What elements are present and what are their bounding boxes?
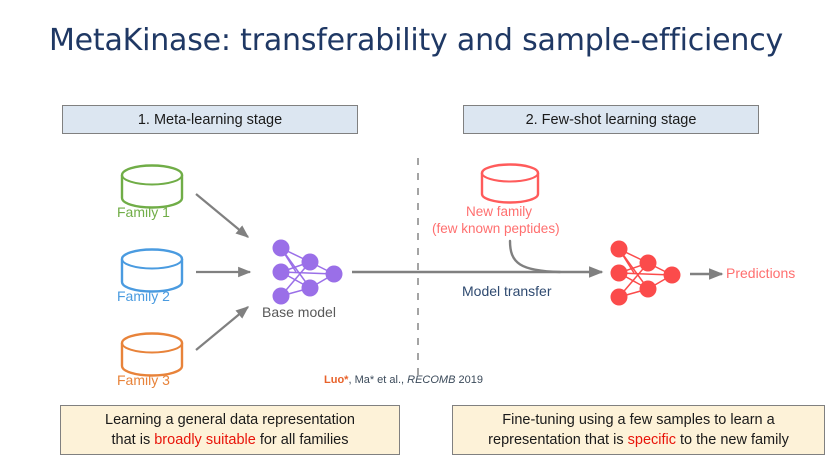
- cylinder-family-1: [122, 166, 182, 208]
- citation-journal: RECOMB: [407, 374, 455, 386]
- caption-meta-line2: that is broadly suitable for all familie…: [112, 430, 349, 450]
- label-family-2: Family 2: [117, 288, 170, 304]
- citation: Luo*, Ma* et al., RECOMB 2019: [324, 374, 483, 386]
- caption-fewshot-line1: Fine-tuning using a few samples to learn…: [502, 410, 774, 430]
- caption-meta-line1: Learning a general data representation: [105, 410, 355, 430]
- caption-few-shot: Fine-tuning using a few samples to learn…: [452, 405, 825, 455]
- arrow-model-transfer-curve: [510, 241, 560, 272]
- label-family-1: Family 1: [117, 204, 170, 220]
- caption-fewshot-line2: representation that is specific to the n…: [488, 430, 789, 450]
- neural-network-tuned-model-nodes: [611, 241, 681, 306]
- caption-fewshot-line2-a: representation that is: [488, 432, 627, 448]
- diagram-graphics: [0, 0, 832, 468]
- caption-fewshot-line2-b: to the new family: [676, 432, 789, 448]
- caption-meta-learning: Learning a general data representation t…: [60, 405, 400, 455]
- slide-canvas: MetaKinase: transferability and sample-e…: [0, 0, 832, 468]
- label-predictions: Predictions: [726, 265, 795, 281]
- label-new-family-sub: (few known peptides): [432, 221, 560, 236]
- arrow-family3-to-base: [196, 307, 248, 350]
- label-new-family: New family: [466, 204, 532, 219]
- citation-year: 2019: [455, 374, 483, 386]
- cylinder-family-3: [122, 334, 182, 376]
- citation-author: Luo*: [324, 374, 348, 386]
- arrow-family1-to-base: [196, 194, 248, 237]
- caption-fewshot-highlight: specific: [628, 432, 676, 448]
- citation-rest: , Ma* et al.,: [348, 374, 407, 386]
- cylinder-family-2: [122, 250, 182, 292]
- caption-meta-line2-b: for all families: [256, 432, 349, 448]
- label-model-transfer: Model transfer: [462, 283, 551, 299]
- caption-meta-line2-a: that is: [112, 432, 155, 448]
- cylinder-new-family: [482, 165, 538, 203]
- label-family-3: Family 3: [117, 372, 170, 388]
- neural-network-base-model-nodes: [273, 240, 343, 305]
- label-base-model: Base model: [262, 304, 336, 320]
- caption-meta-highlight: broadly suitable: [154, 432, 256, 448]
